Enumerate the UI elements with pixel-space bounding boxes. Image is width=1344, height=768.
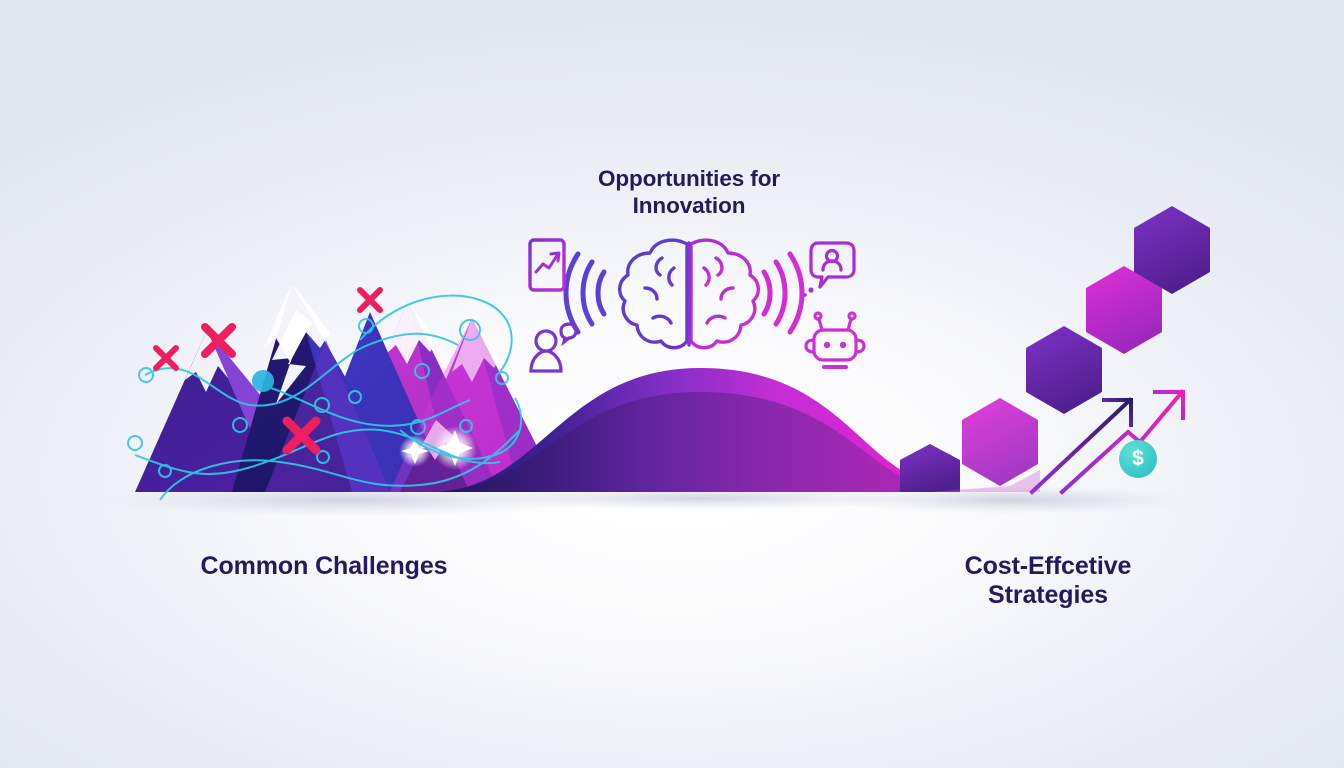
chat-bubble-person-icon (803, 243, 854, 297)
x-mark-icon (360, 290, 380, 310)
dollar-symbol-glyph: $ (1126, 446, 1150, 472)
robot-head-icon (806, 313, 864, 367)
hexagon-base-block (900, 444, 960, 492)
network-node (128, 436, 142, 450)
ai-icon-cluster (530, 240, 864, 371)
infographic-canvas: $ Opportunities for Innovation Common Ch… (0, 0, 1344, 768)
tablet-analytics-icon (530, 240, 564, 290)
growth-arrow-purple-icon (1032, 400, 1131, 492)
brain-icon (620, 240, 759, 348)
hexagon-step-icon (962, 398, 1038, 486)
section-label-cost-effective-strategies: Cost-Effcetive Strategies (862, 552, 1234, 610)
user-speech-icon (531, 324, 576, 371)
hexagon-step-icon (1026, 326, 1102, 414)
section-label-common-challenges: Common Challenges (104, 552, 544, 581)
sound-wave-left-icon (566, 254, 604, 332)
network-node-filled (252, 370, 274, 392)
section-label-opportunities: Opportunities for Innovation (557, 165, 821, 219)
mountain-range-group (135, 283, 560, 492)
sound-wave-right-icon (764, 254, 802, 332)
hexagon-staircase-group (900, 206, 1210, 492)
infographic-illustration (0, 0, 1344, 768)
x-mark-icon (156, 348, 176, 368)
